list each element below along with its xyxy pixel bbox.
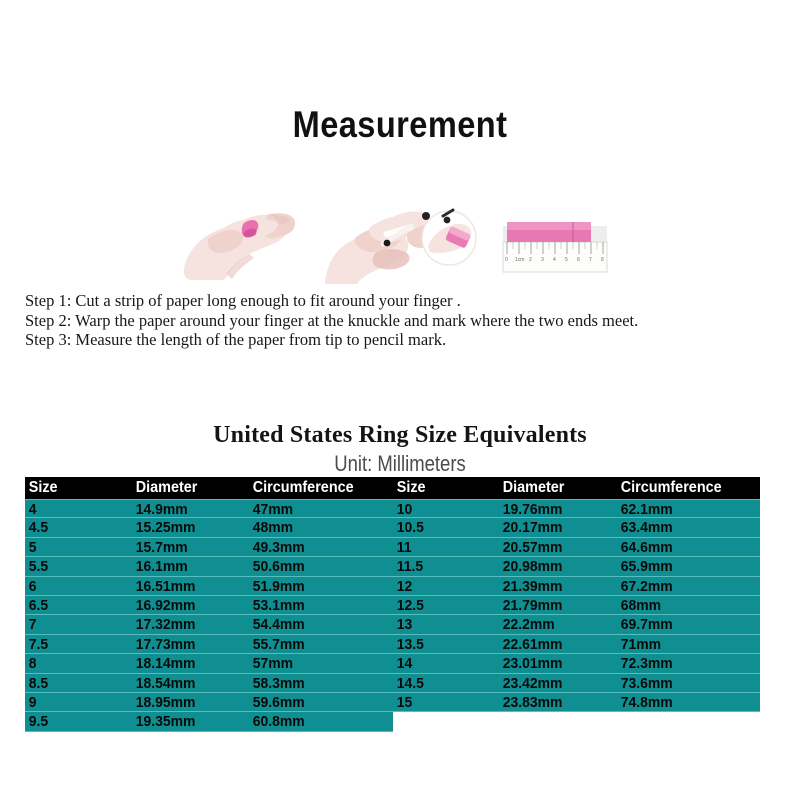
table-row-right-half: 1322.2mm69.7mm [393, 615, 761, 634]
cell-circumference: 60.8mm [249, 712, 382, 730]
cell-diameter: 15.7mm [132, 538, 241, 556]
cell-size: 5.5 [25, 557, 124, 575]
cell-circumference: 63.4mm [617, 518, 750, 536]
table-row: 9.519.35mm60.8mm [25, 712, 760, 731]
cell-circumference: 74.8mm [617, 693, 750, 711]
cell-diameter: 23.42mm [499, 674, 608, 692]
table-row-left-half: 4.515.25mm48mm [25, 518, 393, 537]
table-row: 717.32mm54.4mm1322.2mm69.7mm [25, 615, 760, 634]
cell-size: 11.5 [393, 557, 492, 575]
table-row: 616.51mm51.9mm1221.39mm67.2mm [25, 577, 760, 596]
cell-circumference: 62.1mm [617, 500, 750, 517]
cell-diameter: 17.32mm [132, 615, 241, 633]
cell-size: 5 [25, 538, 124, 556]
cell-size: 12.5 [393, 596, 492, 614]
cell-circumference: 53.1mm [249, 596, 382, 614]
table-row-left-half: 717.32mm54.4mm [25, 615, 393, 634]
cell-circumference: 47mm [249, 500, 382, 517]
svg-text:1cm: 1cm [515, 257, 524, 263]
cell-size: 9 [25, 693, 124, 711]
column-header-size-right: Size [393, 477, 492, 499]
table-row-right-half: 1019.76mm62.1mm [393, 499, 761, 518]
marking-paper-strip-image [325, 198, 479, 284]
column-header-circumference-right: Circumference [617, 477, 750, 499]
table-row-left-half: 6.516.92mm53.1mm [25, 596, 393, 615]
svg-text:6: 6 [577, 257, 580, 263]
cell-diameter: 20.17mm [499, 518, 608, 536]
cell-size: 9.5 [25, 712, 124, 730]
cell-diameter: 17.73mm [132, 635, 241, 653]
cell-diameter: 23.83mm [499, 693, 608, 711]
table-row: 5.516.1mm50.6mm11.520.98mm65.9mm [25, 557, 760, 576]
illustration-strip: 0 1cm 2 3 4 5 6 7 8 [182, 196, 622, 284]
svg-text:4: 4 [553, 257, 556, 263]
table-header-right-half: Size Diameter Circumference [393, 477, 761, 499]
cell-circumference: 65.9mm [617, 557, 750, 575]
table-subheading: Unit: Millimeters [64, 451, 736, 477]
table-row: 7.517.73mm55.7mm13.522.61mm71mm [25, 635, 760, 654]
table-row: 818.14mm57mm1423.01mm72.3mm [25, 654, 760, 673]
table-row-right-half: 14.523.42mm73.6mm [393, 674, 761, 693]
cell-diameter: 21.79mm [499, 596, 608, 614]
table-row-left-half: 5.516.1mm50.6mm [25, 557, 393, 576]
table-row-left-half: 818.14mm57mm [25, 654, 393, 673]
svg-text:0: 0 [505, 257, 508, 263]
cell-diameter: 23.01mm [499, 654, 608, 672]
cell-size: 13 [393, 615, 492, 633]
cell-diameter: 18.54mm [132, 674, 241, 692]
column-header-size-left: Size [25, 477, 124, 499]
cell-size: 6.5 [25, 596, 124, 614]
table-row: 414.9mm47mm1019.76mm62.1mm [25, 499, 760, 518]
cell-diameter: 15.25mm [132, 518, 241, 536]
hand-with-paper-strip-image [182, 198, 311, 284]
svg-text:8: 8 [601, 257, 604, 263]
table-row: 515.7mm49.3mm1120.57mm64.6mm [25, 538, 760, 557]
cell-circumference: 57mm [249, 654, 382, 672]
cell-size: 6 [25, 577, 124, 595]
cell-circumference: 58.3mm [249, 674, 382, 692]
table-row-left-half: 7.517.73mm55.7mm [25, 635, 393, 654]
cell-size: 8 [25, 654, 124, 672]
cell-circumference: 67.2mm [617, 577, 750, 595]
table-row-left-half: 414.9mm47mm [25, 499, 393, 518]
svg-text:2: 2 [529, 257, 532, 263]
cell-size: 10 [393, 500, 492, 517]
step-1: Step 1: Cut a strip of paper long enough… [25, 291, 775, 311]
page-title: Measurement [48, 104, 752, 146]
table-row-right-half: 11.520.98mm65.9mm [393, 557, 761, 576]
cell-size: 14 [393, 654, 492, 672]
step-2: Step 2: Warp the paper around your finge… [25, 311, 775, 331]
cell-circumference: 51.9mm [249, 577, 382, 595]
cell-size: 13.5 [393, 635, 492, 653]
cell-circumference: 54.4mm [249, 615, 382, 633]
table-row: 4.515.25mm48mm10.520.17mm63.4mm [25, 518, 760, 537]
cell-diameter: 16.92mm [132, 596, 241, 614]
cell-circumference: 64.6mm [617, 538, 750, 556]
cell-diameter: 22.61mm [499, 635, 608, 653]
cell-diameter: 22.2mm [499, 615, 608, 633]
table-row-left-half: 8.518.54mm58.3mm [25, 674, 393, 693]
table-row-left-half: 9.519.35mm60.8mm [25, 712, 393, 731]
cell-diameter: 16.1mm [132, 557, 241, 575]
column-header-diameter-right: Diameter [499, 477, 608, 499]
table-row-right-half: 13.522.61mm71mm [393, 635, 761, 654]
cell-diameter: 21.39mm [499, 577, 608, 595]
table-row-right-half [393, 712, 761, 731]
cell-size: 10.5 [393, 518, 492, 536]
cell-diameter: 16.51mm [132, 577, 241, 595]
cell-diameter: 19.35mm [132, 712, 241, 730]
table-row-left-half: 918.95mm59.6mm [25, 693, 393, 712]
cell-size: 7 [25, 615, 124, 633]
svg-text:7: 7 [589, 257, 592, 263]
cell-diameter: 18.95mm [132, 693, 241, 711]
cell-circumference: 69.7mm [617, 615, 750, 633]
cell-diameter: 18.14mm [132, 654, 241, 672]
cell-size: 7.5 [25, 635, 124, 653]
table-header-left-half: Size Diameter Circumference [25, 477, 393, 499]
cell-circumference: 71mm [617, 635, 750, 653]
table-row: 8.518.54mm58.3mm14.523.42mm73.6mm [25, 674, 760, 693]
cell-circumference: 73.6mm [617, 674, 750, 692]
cell-size: 15 [393, 693, 492, 711]
column-header-circumference-left: Circumference [249, 477, 382, 499]
table-body: 414.9mm47mm1019.76mm62.1mm4.515.25mm48mm… [25, 499, 760, 732]
ring-size-table: Size Diameter Circumference Size Diamete… [25, 477, 760, 732]
svg-text:5: 5 [565, 257, 568, 263]
cell-circumference: 68mm [617, 596, 750, 614]
svg-text:3: 3 [541, 257, 544, 263]
paper-strip-on-ruler-image: 0 1cm 2 3 4 5 6 7 8 [485, 198, 622, 284]
cell-circumference: 49.3mm [249, 538, 382, 556]
column-header-diameter-left: Diameter [132, 477, 241, 499]
cell-circumference: 72.3mm [617, 654, 750, 672]
cell-size: 4.5 [25, 518, 124, 536]
table-row-right-half: 10.520.17mm63.4mm [393, 518, 761, 537]
cell-circumference: 48mm [249, 518, 382, 536]
table-row-right-half: 1120.57mm64.6mm [393, 538, 761, 557]
cell-diameter: 20.98mm [499, 557, 608, 575]
table-row-left-half: 616.51mm51.9mm [25, 577, 393, 596]
table-row-right-half: 1221.39mm67.2mm [393, 577, 761, 596]
cell-diameter: 19.76mm [499, 500, 608, 517]
cell-circumference: 50.6mm [249, 557, 382, 575]
measurement-steps: Step 1: Cut a strip of paper long enough… [25, 291, 775, 350]
cell-diameter: 20.57mm [499, 538, 608, 556]
table-row-right-half: 1523.83mm74.8mm [393, 693, 761, 712]
table-row-left-half: 515.7mm49.3mm [25, 538, 393, 557]
table-row: 6.516.92mm53.1mm12.521.79mm68mm [25, 596, 760, 615]
cell-circumference: 55.7mm [249, 635, 382, 653]
table-row-right-half: 1423.01mm72.3mm [393, 654, 761, 673]
cell-circumference: 59.6mm [249, 693, 382, 711]
cell-size: 4 [25, 500, 124, 517]
cell-diameter: 14.9mm [132, 500, 241, 517]
table-row-right-half: 12.521.79mm68mm [393, 596, 761, 615]
table-heading: United States Ring Size Equivalents [0, 422, 800, 449]
step-3: Step 3: Measure the length of the paper … [25, 330, 775, 350]
table-row: 918.95mm59.6mm1523.83mm74.8mm [25, 693, 760, 712]
cell-size: 12 [393, 577, 492, 595]
cell-size: 8.5 [25, 674, 124, 692]
cell-size: 14.5 [393, 674, 492, 692]
table-header-row: Size Diameter Circumference Size Diamete… [25, 477, 760, 499]
cell-size: 11 [393, 538, 492, 556]
